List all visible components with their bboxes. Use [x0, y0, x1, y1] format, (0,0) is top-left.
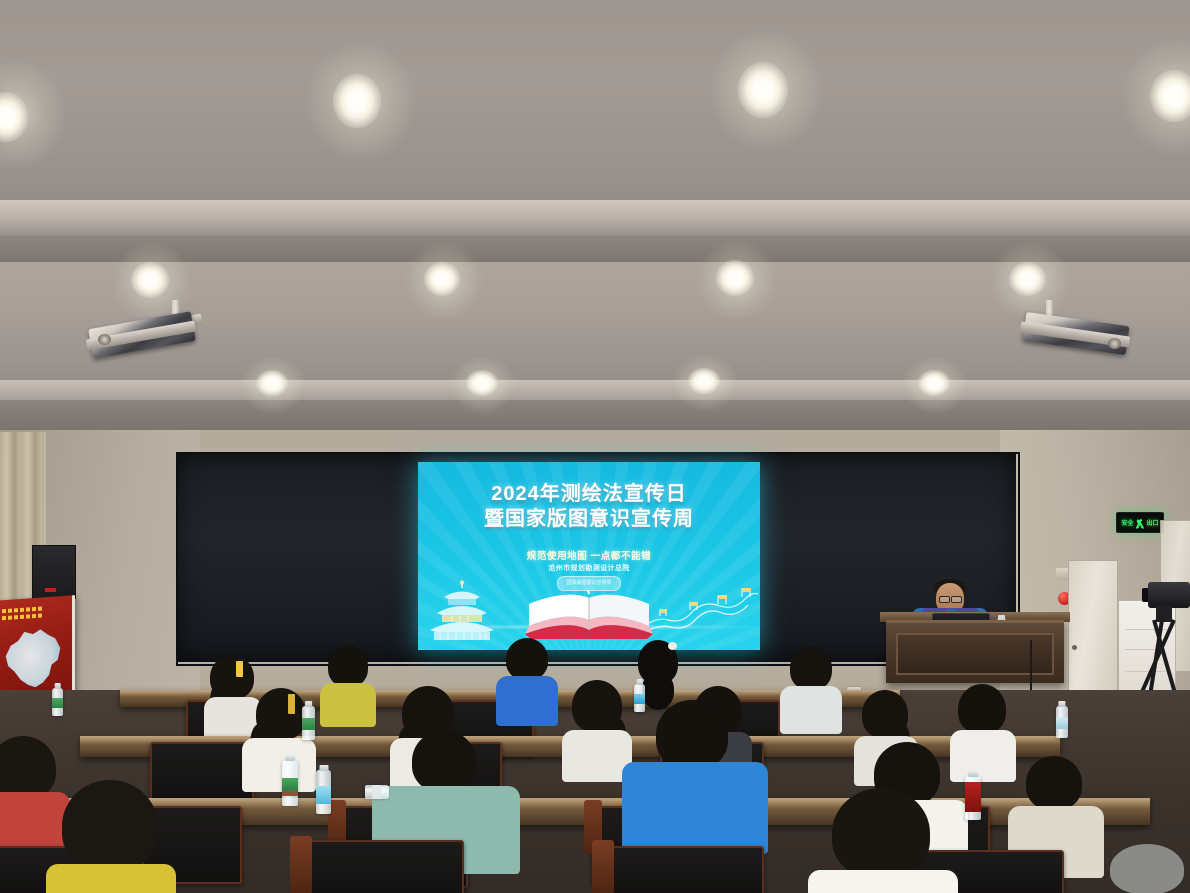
- slide-title-line2: 暨国家版图意识宣传周: [418, 507, 760, 532]
- ceiling-soffit: [0, 200, 1190, 236]
- person-torso: [622, 762, 768, 854]
- person-torso: [950, 730, 1016, 782]
- ceiling-downlight: [716, 260, 754, 296]
- open-book-icon: [519, 590, 659, 640]
- hair-clip-icon: [236, 661, 243, 677]
- video-camera: [1148, 582, 1190, 608]
- person-torso: [496, 676, 558, 726]
- person-torso: [808, 870, 958, 893]
- presenter-glasses-left: [939, 596, 950, 603]
- chair: [600, 846, 764, 893]
- slide-title: 2024年测绘法宣传日 暨国家版图意识宣传周: [418, 482, 760, 532]
- chair: [300, 840, 464, 893]
- bottle-label: [302, 718, 315, 730]
- person-hair: [656, 700, 728, 770]
- person-torso: [780, 686, 842, 734]
- person-hair: [328, 645, 368, 687]
- ceiling-lip: [0, 380, 1190, 400]
- bottle-label: [634, 694, 645, 704]
- ceiling-downlight: [688, 368, 720, 394]
- person-torso: [242, 738, 316, 792]
- water-bottle: [634, 684, 645, 712]
- bottle-cap-icon: [636, 679, 643, 685]
- person-ponytail: [642, 674, 674, 710]
- slide-title-line1: 2024年测绘法宣传日: [418, 482, 760, 507]
- board-line: [1125, 671, 1165, 672]
- running-man-icon: [1135, 517, 1146, 529]
- person-hair: [958, 684, 1006, 734]
- bottle-cap-icon: [319, 765, 328, 771]
- bottle-cap-icon: [54, 683, 61, 689]
- bottle-label: [52, 698, 63, 708]
- bottle-label: [1056, 718, 1068, 729]
- person-hair: [790, 646, 832, 690]
- bottle-cap-icon: [1058, 701, 1065, 707]
- slide-organization: 沧州市规划勘测设计总院: [418, 563, 760, 573]
- hair-clip-icon: [668, 642, 677, 650]
- water-bottle: [1056, 706, 1068, 738]
- bottle-cap-icon: [305, 701, 313, 707]
- bottle-label: [372, 785, 381, 799]
- bottle-label: [282, 778, 298, 796]
- exit-sign-text-left: 安全: [1121, 518, 1133, 527]
- water-bottle: [302, 706, 315, 740]
- bottle-cap-icon: [285, 755, 295, 761]
- chair-armrest: [290, 836, 312, 893]
- person-hair: [506, 638, 548, 680]
- slide-badge: 国家版图意识宣传周: [557, 576, 621, 591]
- ceiling-downlight: [333, 74, 381, 128]
- person-hair: [832, 788, 930, 878]
- ceiling-projector-right: [1012, 300, 1138, 362]
- slide-badge-label: 国家版图意识宣传周: [558, 577, 620, 590]
- chair-armrest: [592, 840, 614, 893]
- ceiling-downlight: [738, 62, 788, 118]
- person-hair: [62, 780, 158, 872]
- water-bottle: [316, 770, 331, 814]
- chair: [150, 742, 254, 804]
- water-bottle: [282, 760, 298, 806]
- lecture-hall-photo: 2024年测绘法宣传日 暨国家版图意识宣传周 规范使用地图 一点都不能错 沧州市…: [0, 0, 1190, 893]
- person-hair: [412, 730, 476, 792]
- bottle-label: [965, 782, 981, 812]
- ceiling-downlight: [918, 370, 950, 396]
- ceiling-downlight: [131, 262, 169, 298]
- bottle-label: [316, 786, 331, 804]
- door-knob-icon[interactable]: [1072, 645, 1077, 650]
- ceiling-downlight: [466, 370, 498, 396]
- ceiling-downlight: [424, 262, 460, 296]
- presentation-slide: 2024年测绘法宣传日 暨国家版图意识宣传周 规范使用地图 一点都不能错 沧州市…: [418, 462, 760, 650]
- ceiling-downlight: [1009, 262, 1046, 296]
- speaker-indicator: [45, 588, 56, 592]
- person-hair: [1110, 844, 1184, 893]
- person-hair: [1026, 756, 1082, 810]
- ceiling-downlight: [1150, 70, 1190, 122]
- wall-speaker: [32, 545, 76, 599]
- projector-lens: [98, 334, 111, 345]
- bottle-cap-icon: [968, 771, 978, 777]
- water-bottle: [365, 785, 389, 799]
- poster-heading: [0, 606, 44, 623]
- presenter-glasses-right: [951, 596, 962, 603]
- ceiling-projector-left: [86, 300, 212, 362]
- emergency-exit-sign: 安全 出口: [1116, 512, 1164, 533]
- projector-lens: [1108, 338, 1121, 349]
- hair-clip-icon: [288, 694, 295, 714]
- exit-sign-text-right: 出口: [1147, 518, 1159, 527]
- water-bottle: [965, 776, 981, 820]
- water-bottle: [52, 688, 63, 716]
- temple-of-heaven-icon: [424, 580, 500, 642]
- slide-subtitle: 规范使用地图 一点都不能错: [418, 548, 760, 562]
- person-torso: [46, 864, 176, 893]
- ceiling-downlight: [256, 370, 288, 396]
- person-torso: [320, 683, 376, 727]
